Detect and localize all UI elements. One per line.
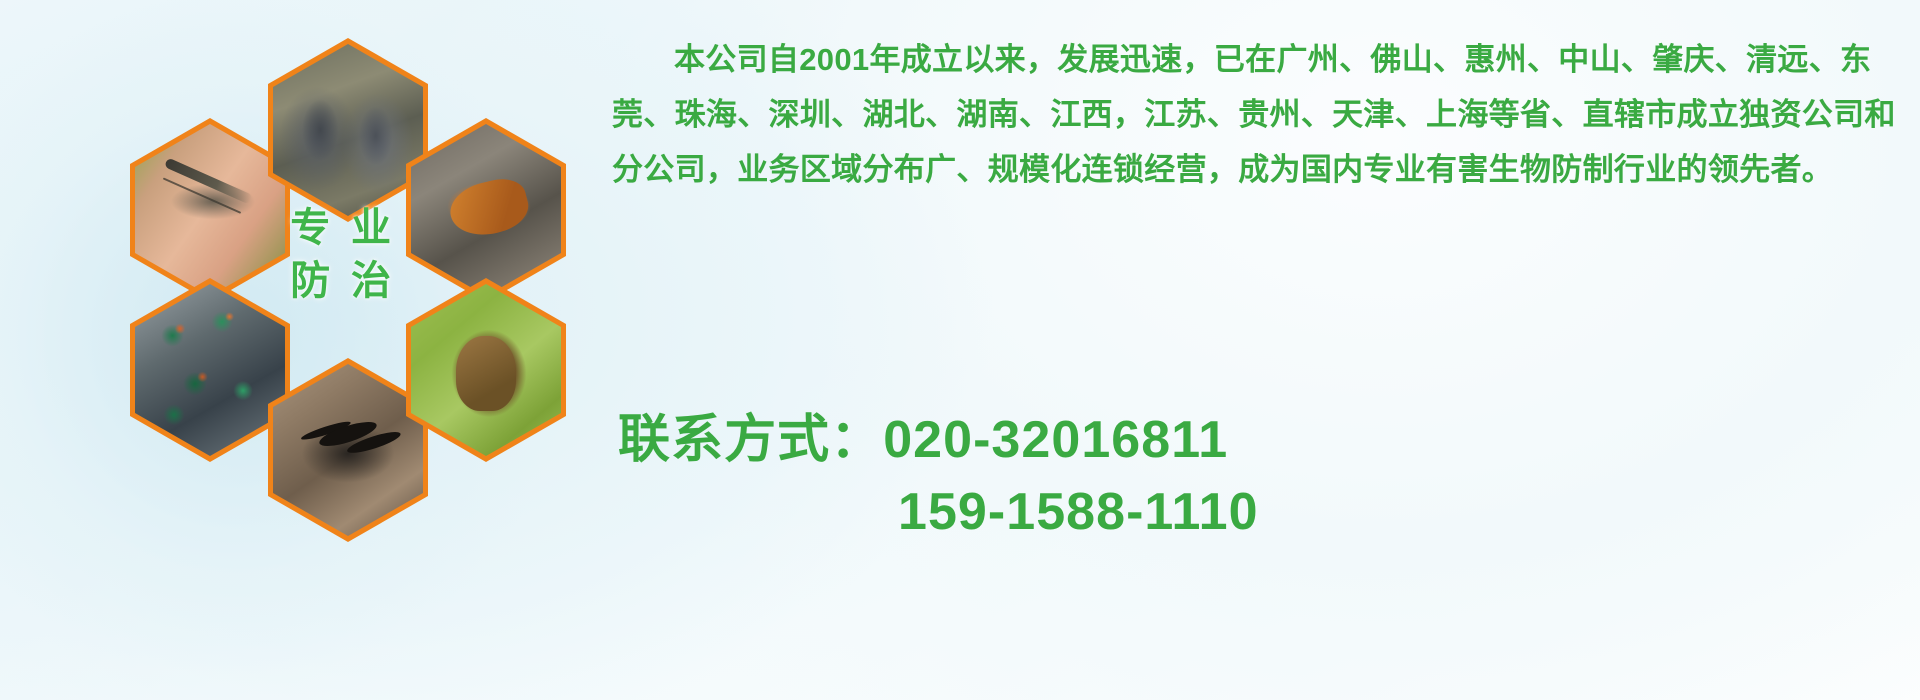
hex-inner [411, 284, 561, 456]
hex-inner [411, 124, 561, 296]
hex-cell-rats [268, 38, 428, 222]
hex-cell-cockroach [406, 118, 566, 302]
hex-inner [135, 284, 285, 456]
honeycomb-label: 专 业 防 治 [273, 202, 413, 308]
promo-banner: 专 业 防 治 本公司自2001年成立以来，发展迅速，已在广州、佛山、惠州、中山… [0, 0, 1920, 700]
intro-paragraph: 本公司自2001年成立以来，发展迅速，已在广州、佛山、惠州、中山、肇庆、清远、东… [612, 32, 1902, 197]
hex-cell-flies [130, 278, 290, 462]
rats-icon [273, 44, 423, 216]
contact-line-primary[interactable]: 联系方式：020-32016811 [618, 404, 1908, 476]
honeycomb-label-line-1: 专 业 [273, 202, 413, 255]
intro-copy: 本公司自2001年成立以来，发展迅速，已在广州、佛山、惠州、中山、肇庆、清远、东… [612, 32, 1902, 197]
mosquito-icon [135, 124, 285, 296]
ant-icon [273, 364, 423, 536]
stink-bug-icon [411, 284, 561, 456]
hex-cell-stink-bug [406, 278, 566, 462]
hex-inner [135, 124, 285, 296]
honeycomb-label-line-2: 防 治 [273, 255, 413, 308]
hex-cell-ant [268, 358, 428, 542]
honeycomb-collage: 专 业 防 治 [90, 10, 590, 570]
contact-line-secondary[interactable]: 159-1588-1110 [618, 476, 1908, 548]
cockroach-icon [411, 124, 561, 296]
contact-block: 联系方式：020-32016811 159-1588-1110 [618, 404, 1908, 548]
hex-inner [273, 44, 423, 216]
hex-cell-mosquito [130, 118, 290, 302]
hex-inner [273, 364, 423, 536]
flies-icon [135, 284, 285, 456]
